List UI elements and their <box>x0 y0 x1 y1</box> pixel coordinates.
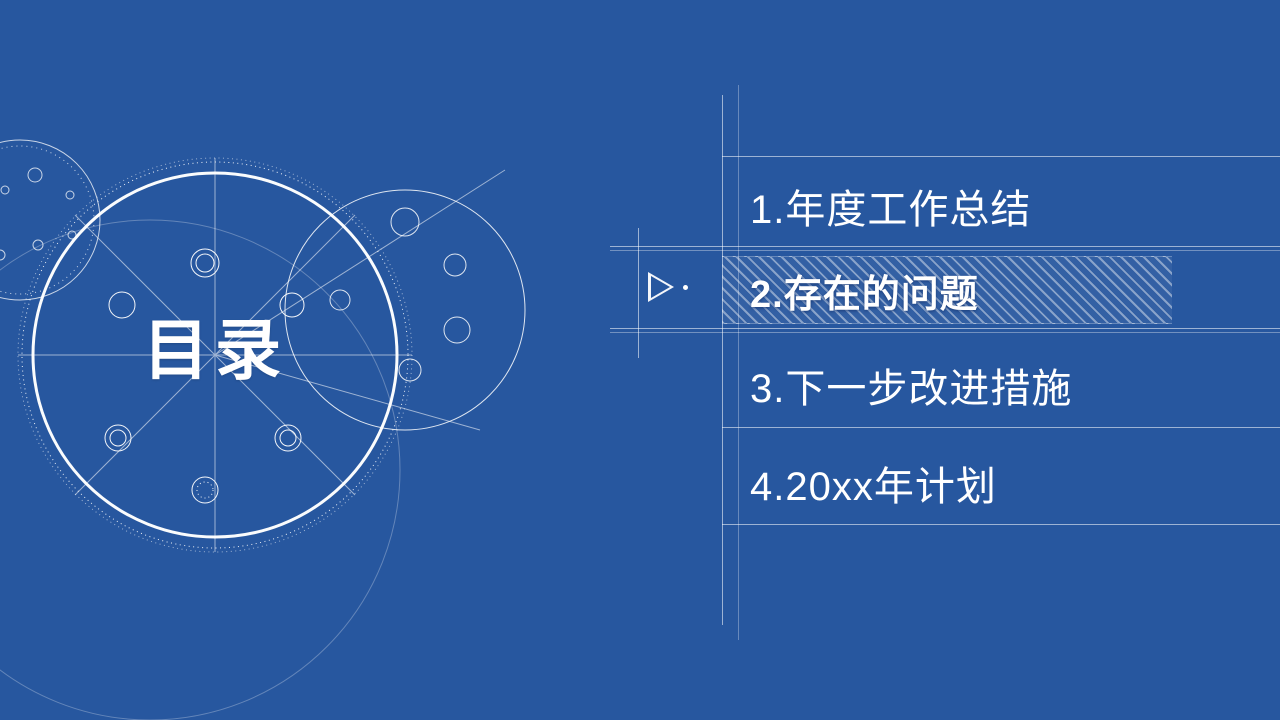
toc-item-4[interactable]: 4.20xx年计划 <box>722 443 997 523</box>
toc-item-3-label: 3.下一步改进措施 <box>722 356 1072 414</box>
active-item-marker <box>648 272 688 302</box>
marker-dot-icon <box>683 285 688 290</box>
play-triangle-icon <box>648 272 674 302</box>
page-title: 目录 <box>143 317 287 383</box>
divider-1-shadow <box>610 250 1280 251</box>
divider-3 <box>722 427 1280 428</box>
catalog-title-wrap: 目录 <box>0 0 700 720</box>
divider-1 <box>610 246 1280 247</box>
divider-4 <box>722 524 1280 525</box>
divider-2 <box>610 328 1280 329</box>
toc-item-1-label: 1.年度工作总结 <box>722 177 1031 235</box>
toc-panel: 1.年度工作总结 2.存在的问题 3.下一步改进措施 4.20xx年计划 <box>610 0 1280 720</box>
guide-line-vertical-marker <box>638 228 639 358</box>
slide-catalog: 目录 1.年度工作总结 2.存在的问题 3.下一步改进措施 4.20xx年计划 <box>0 0 1280 720</box>
toc-item-4-label: 4.20xx年计划 <box>722 454 997 512</box>
toc-item-2[interactable]: 2.存在的问题 <box>722 256 1172 324</box>
toc-item-2-label: 2.存在的问题 <box>722 263 979 318</box>
guide-line-top <box>722 156 1280 157</box>
toc-item-1[interactable]: 1.年度工作总结 <box>722 166 1031 246</box>
divider-2-shadow <box>610 332 1280 333</box>
toc-item-3[interactable]: 3.下一步改进措施 <box>722 345 1072 425</box>
